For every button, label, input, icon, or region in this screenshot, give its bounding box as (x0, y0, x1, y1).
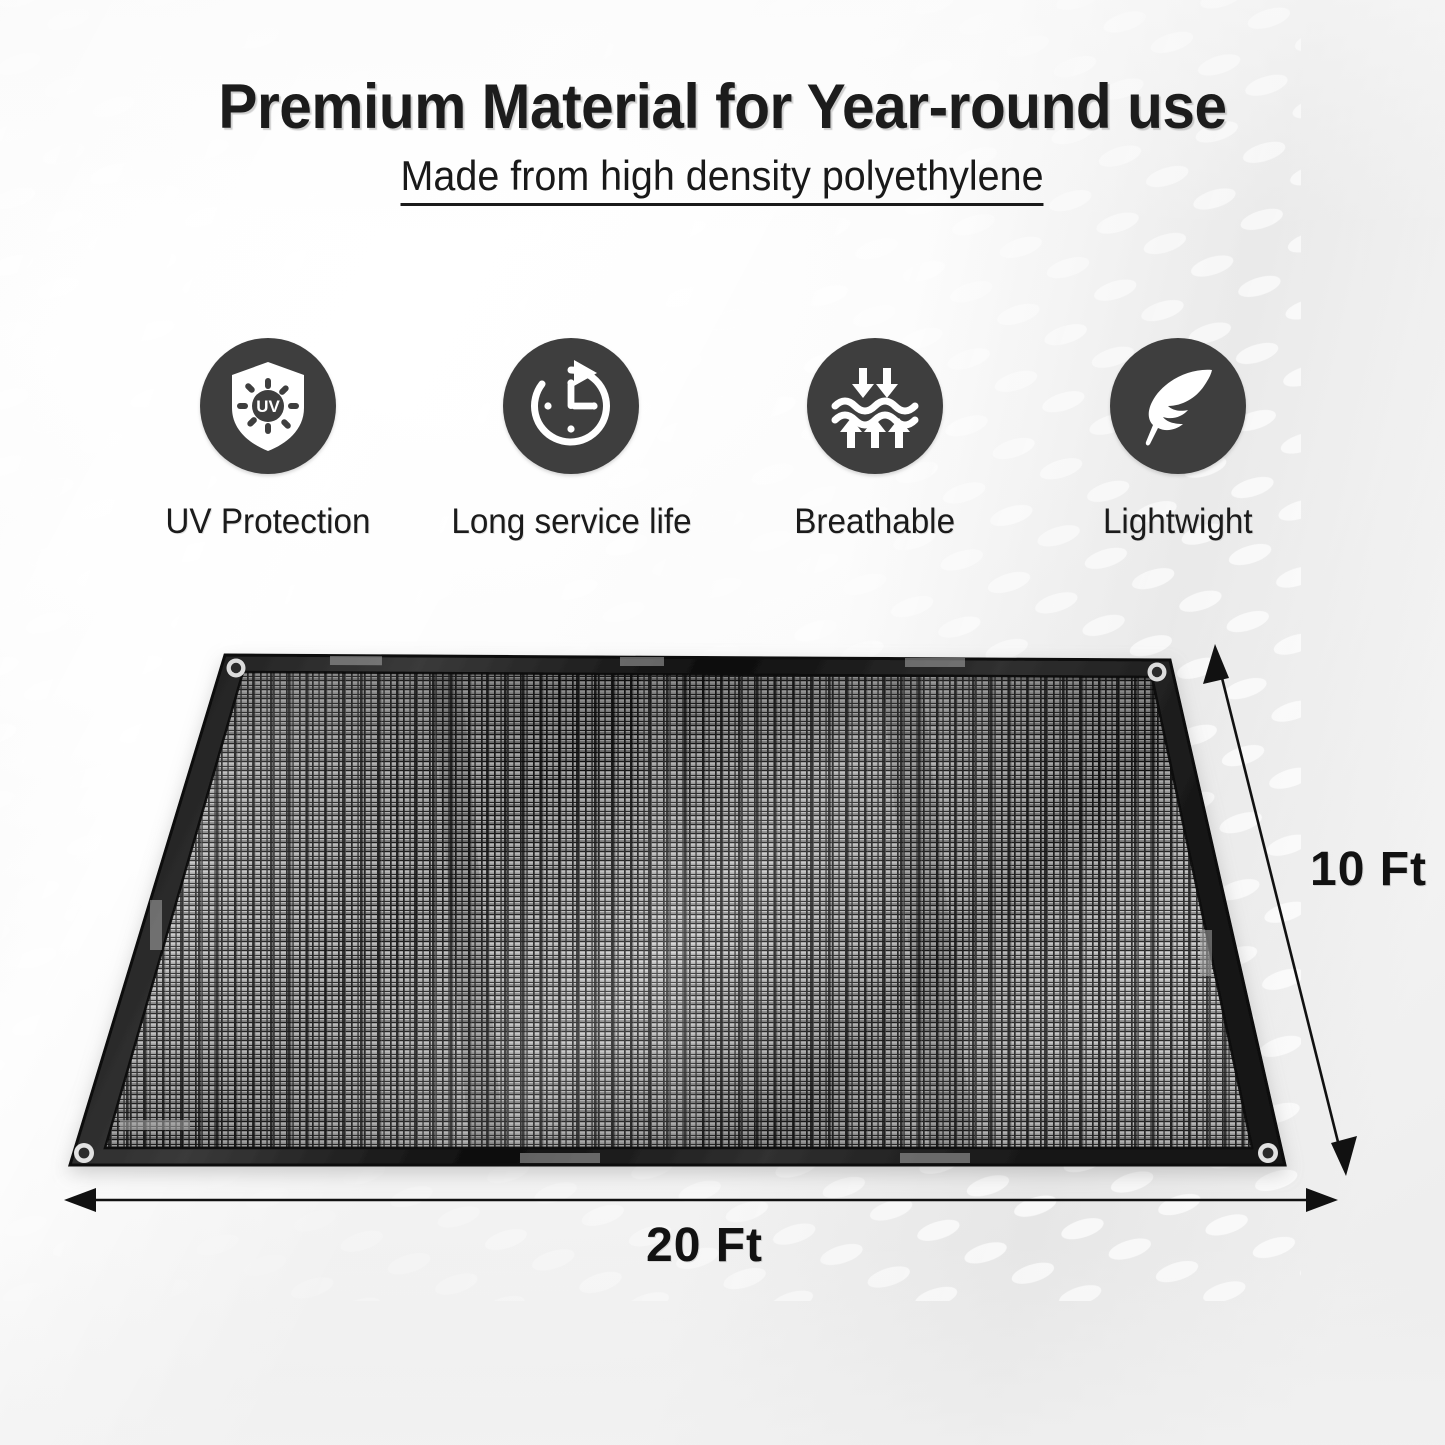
headline-container: Premium Material for Year-round use (0, 74, 1445, 140)
uv-icon-text: UV (256, 397, 280, 416)
dimension-arrow-width (64, 1188, 1338, 1212)
uv-shield-icon: UV (216, 354, 320, 458)
page-title: Premium Material for Year-round use (51, 74, 1395, 140)
grommet-top-left (227, 659, 246, 678)
feature-list: UV UV Protection (118, 338, 1328, 542)
shade-cloth-illustration (0, 600, 1445, 1300)
feature-breathable: Breathable (725, 338, 1025, 542)
feature-label-breathable: Breathable (794, 502, 955, 542)
grommet-bottom-right (1258, 1143, 1278, 1163)
page-subtitle: Made from high density polyethylene (401, 152, 1044, 206)
dimension-label-height: 10 Ft (1310, 842, 1427, 897)
feature-label-long-service-life: Long service life (451, 502, 691, 542)
breathable-waves-icon (823, 354, 927, 458)
shade-cloth-panel (60, 650, 1300, 1170)
infographic-page: Premium Material for Year-round use Made… (0, 0, 1445, 1445)
feather-icon (1126, 354, 1230, 458)
grommet-bottom-left (74, 1143, 94, 1163)
long-service-life-icon-badge (503, 338, 639, 474)
grommet-top-right (1148, 663, 1167, 682)
feature-label-lightweight: Lightwight (1103, 502, 1253, 542)
subheadline-container: Made from high density polyethylene (0, 152, 1445, 206)
feature-uv-protection: UV UV Protection (118, 338, 418, 542)
uv-protection-icon-badge: UV (200, 338, 336, 474)
feature-long-service-life: Long service life (421, 338, 721, 542)
clock-arrow-icon (519, 354, 623, 458)
feature-label-uv-protection: UV Protection (165, 502, 370, 542)
feature-lightweight: Lightwight (1028, 338, 1328, 542)
product-stage (0, 600, 1445, 1300)
lightweight-icon-badge (1110, 338, 1246, 474)
breathable-icon-badge (807, 338, 943, 474)
dimension-label-width: 20 Ft (646, 1218, 763, 1273)
